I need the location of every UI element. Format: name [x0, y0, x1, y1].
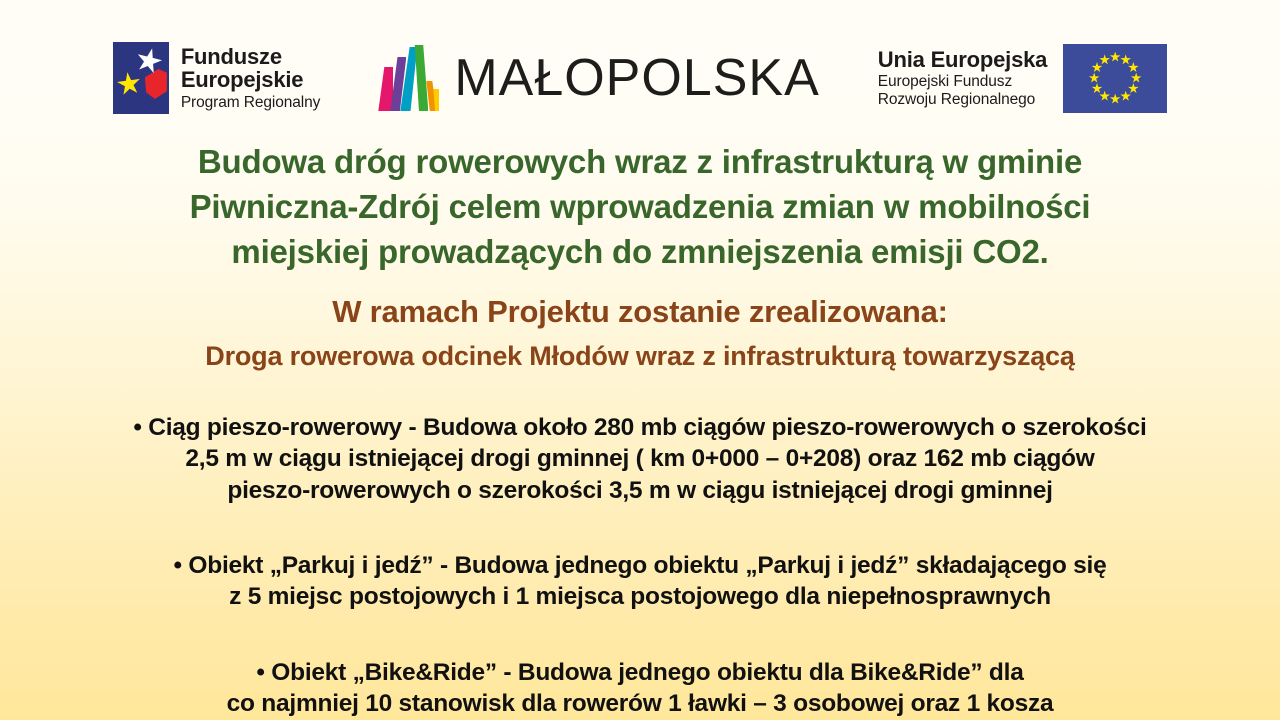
fundusze-europejskie-text: Fundusze Europejskie Program Regionalny — [181, 45, 321, 111]
bullet-3-line-1: • Obiekt „Bike&Ride” - Budowa jednego ob… — [14, 657, 1266, 688]
malopolska-stroke-pink — [378, 67, 393, 111]
eu-line-3: Rozwoju Regionalnego — [878, 91, 1047, 109]
eu-star-icon — [1089, 73, 1100, 84]
title-line-3: miejskiej prowadzących do zmniejszenia e… — [0, 230, 1280, 275]
bullet-2-line-1: • Obiekt „Parkuj i jedź” - Budowa jedneg… — [14, 550, 1266, 581]
bullet-list: • Ciąg pieszo-rowerowy - Budowa około 28… — [0, 412, 1280, 720]
eu-star-icon — [1092, 83, 1103, 94]
logo-unia-europejska: Unia Europejska Europejski Fundusz Rozwo… — [878, 44, 1167, 113]
unia-europejska-text: Unia Europejska Europejski Fundusz Rozwo… — [878, 47, 1047, 110]
subtitle: W ramach Projektu zostanie zrealizowana:… — [0, 292, 1280, 375]
eu-star-icon — [1120, 91, 1131, 102]
eu-star-icon — [1120, 54, 1131, 65]
fe-line-1: Fundusze — [181, 45, 321, 68]
eu-flag-icon — [1063, 44, 1167, 113]
eu-star-icon — [1128, 83, 1139, 94]
bullet-item-3: • Obiekt „Bike&Ride” - Budowa jednego ob… — [0, 657, 1280, 720]
eu-star-icon — [1099, 91, 1110, 102]
bullet-2-line-2: z 5 miejsc postojowych i 1 miejsca posto… — [14, 581, 1266, 612]
bullet-1-line-2: 2,5 m w ciągu istniejącej drogi gminnej … — [14, 443, 1266, 474]
bullet-1-line-1: • Ciąg pieszo-rowerowy - Budowa około 28… — [14, 412, 1266, 443]
page-title: Budowa dróg rowerowych wraz z infrastruk… — [0, 140, 1280, 275]
eu-star-icon — [1131, 73, 1142, 84]
fundusze-europejskie-icon — [113, 42, 169, 114]
malopolska-m-icon — [378, 45, 440, 111]
eu-star-icon — [1110, 94, 1121, 105]
eu-star-icon — [1099, 54, 1110, 65]
title-line-1: Budowa dróg rowerowych wraz z infrastruk… — [0, 140, 1280, 185]
slide-root: Fundusze Europejskie Program Regionalny … — [0, 0, 1280, 720]
eu-star-icon — [1128, 62, 1139, 73]
eu-line-1: Unia Europejska — [878, 47, 1047, 73]
bullet-item-1: • Ciąg pieszo-rowerowy - Budowa około 28… — [0, 412, 1280, 506]
eu-line-2: Europejski Fundusz — [878, 73, 1047, 91]
bullet-item-2: • Obiekt „Parkuj i jedź” - Budowa jedneg… — [0, 550, 1280, 613]
title-line-2: Piwniczna-Zdrój celem wprowadzenia zmian… — [0, 185, 1280, 230]
bullet-1-line-3: pieszo-rowerowych o szerokości 3,5 m w c… — [14, 475, 1266, 506]
logo-bar: Fundusze Europejskie Program Regionalny … — [0, 30, 1280, 126]
malopolska-wordmark: MAŁOPOLSKA — [454, 52, 819, 104]
logo-fundusze-europejskie: Fundusze Europejskie Program Regionalny — [113, 42, 321, 114]
fe-line-3: Program Regionalny — [181, 95, 321, 111]
fe-line-2: Europejskie — [181, 68, 321, 91]
eu-star-icon — [1092, 62, 1103, 73]
subtitle-line-1: W ramach Projektu zostanie zrealizowana: — [0, 292, 1280, 332]
bullet-3-line-2: co najmniej 10 stanowisk dla rowerów 1 ł… — [14, 688, 1266, 719]
eu-star-icon — [1110, 52, 1121, 63]
subtitle-line-2: Droga rowerowa odcinek Młodów wraz z inf… — [0, 338, 1280, 374]
logo-malopolska: MAŁOPOLSKA — [378, 45, 819, 111]
